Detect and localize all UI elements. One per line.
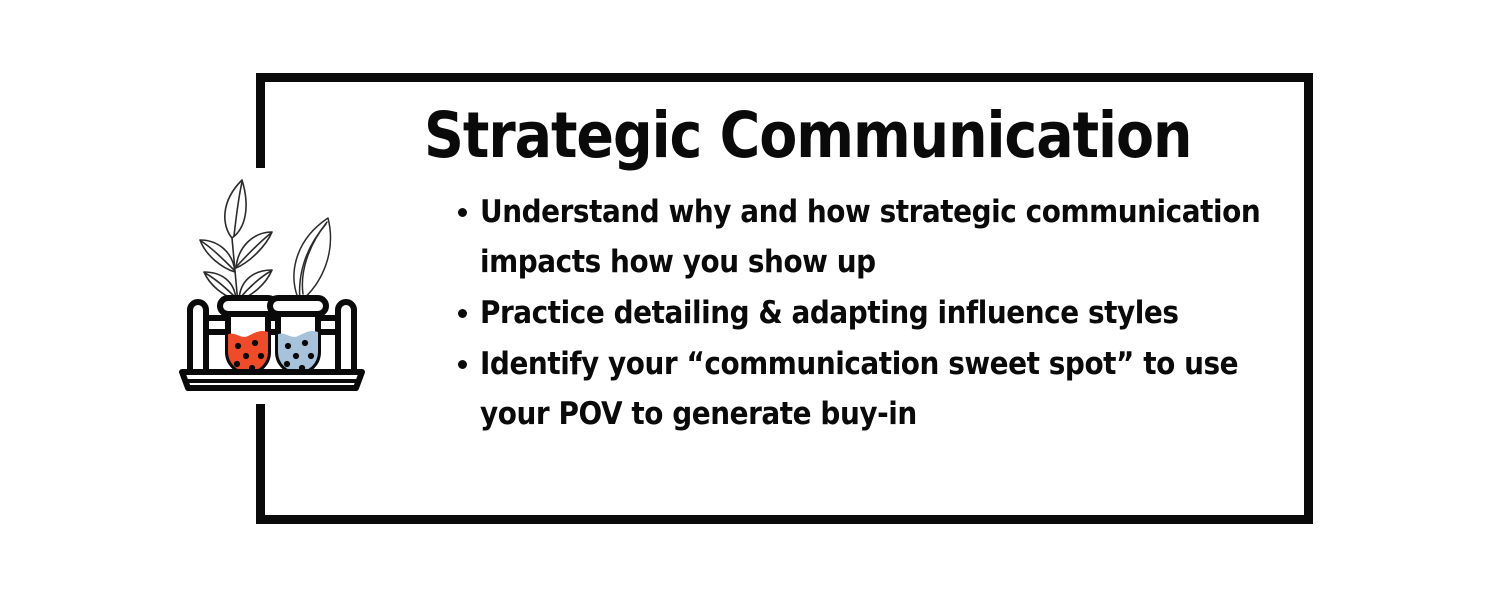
frame-left-rule-upper xyxy=(256,73,265,168)
plant-left-leaves xyxy=(200,180,272,304)
list-item-text: Practice detailing & adapting influence … xyxy=(480,288,1283,338)
test-tube-right xyxy=(270,298,326,378)
list-item: Understand why and how strategic communi… xyxy=(424,187,1284,287)
plant-right-leaf xyxy=(294,218,331,302)
list-item: Identify your “communication sweet spot”… xyxy=(424,339,1284,439)
page-title: Strategic Communication xyxy=(424,104,1181,167)
test-tube-rack-icon xyxy=(176,176,368,402)
test-tube-left xyxy=(220,298,276,378)
test-tube-right-rim xyxy=(270,298,326,314)
list-item-text: Identify your “communication sweet spot”… xyxy=(480,339,1283,439)
frame-top-rule xyxy=(256,73,1313,82)
list-item-text: Understand why and how strategic communi… xyxy=(480,187,1283,287)
list-item: Practice detailing & adapting influence … xyxy=(424,288,1284,338)
frame-bottom-rule xyxy=(256,515,1313,524)
rack-base xyxy=(182,372,362,388)
text-content: Strategic Communication Understand why a… xyxy=(424,104,1284,440)
frame-left-rule-lower xyxy=(256,404,265,524)
objectives-list: Understand why and how strategic communi… xyxy=(424,187,1284,439)
slide-canvas: Strategic Communication Understand why a… xyxy=(0,0,1500,600)
